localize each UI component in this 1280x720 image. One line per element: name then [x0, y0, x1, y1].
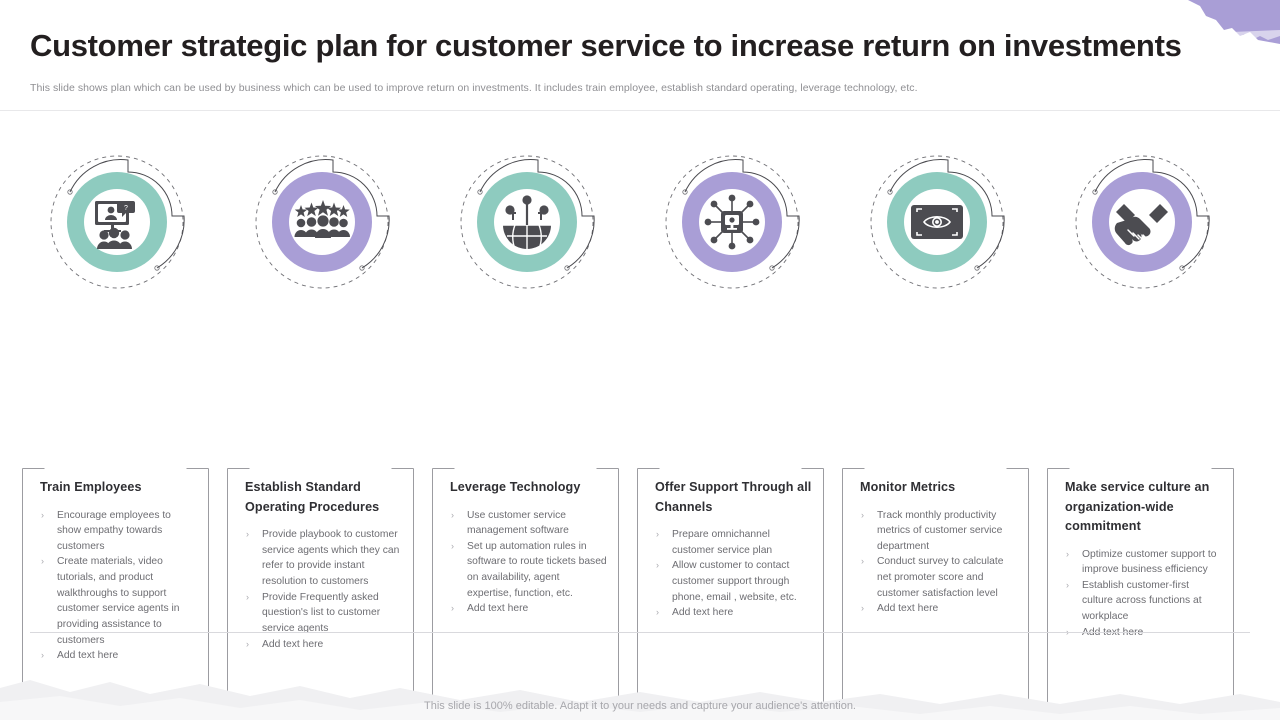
bullet-chevron-icon: › — [41, 508, 44, 523]
columns-container: ? Train Employees › Encourage employees … — [0, 0, 1280, 720]
bullet-chevron-icon: › — [246, 527, 249, 542]
step-column-01[interactable]: ? Train Employees › Encourage employees … — [22, 150, 227, 300]
bullet-text: Prepare omnichannel customer service pla… — [672, 529, 772, 556]
bullet-text: Track monthly productivity metrics of cu… — [877, 510, 1002, 552]
bullet-item: › Allow customer to contact customer sup… — [655, 558, 812, 605]
training-presentation-icon: ? — [45, 150, 205, 300]
step-column-06[interactable]: Make service culture an organization-wid… — [1047, 150, 1252, 300]
bullet-item: › Prepare omnichannel customer service p… — [655, 527, 812, 558]
slide-root: Customer strategic plan for customer ser… — [0, 0, 1280, 720]
star-rating-team-icon — [250, 150, 410, 300]
card-bullet-list: › Track monthly productivity metrics of … — [860, 508, 1017, 617]
card-title: Offer Support Through all Channels — [655, 478, 812, 517]
card-title: Train Employees — [40, 478, 197, 498]
bullet-chevron-icon: › — [1066, 547, 1069, 562]
card-bullet-list: › Use customer service management softwa… — [450, 508, 607, 617]
bullet-chevron-icon: › — [451, 539, 454, 554]
bullet-item: › Conduct survey to calculate net promot… — [860, 554, 1017, 601]
bullet-item: › Use customer service management softwa… — [450, 508, 607, 539]
globe-network-icon — [455, 150, 615, 300]
bullet-item: › Add text here — [860, 601, 1017, 617]
bullet-item: › Encourage employees to show empathy to… — [40, 508, 197, 555]
card-bullet-list: › Prepare omnichannel customer service p… — [655, 527, 812, 621]
bullet-item: › Set up automation rules in software to… — [450, 539, 607, 602]
card-bullet-list: › Encourage employees to show empathy to… — [40, 508, 197, 664]
bullet-text: Add text here — [672, 607, 733, 618]
bullet-chevron-icon: › — [246, 590, 249, 605]
bullet-item: › Establish customer-first culture acros… — [1065, 578, 1222, 625]
bullet-item: › Add text here — [655, 605, 812, 621]
bullet-chevron-icon: › — [451, 508, 454, 523]
card-title: Establish Standard Operating Procedures — [245, 478, 402, 517]
bullet-text: Add text here — [877, 603, 938, 614]
bullet-item: › Provide Frequently asked question's li… — [245, 590, 402, 637]
bullet-item: › Track monthly productivity metrics of … — [860, 508, 1017, 555]
bullet-item: › Add text here — [450, 601, 607, 617]
step-column-03[interactable]: Leverage Technology › Use customer servi… — [432, 150, 637, 300]
bullet-text: Set up automation rules in software to r… — [467, 541, 607, 599]
bullet-chevron-icon: › — [1066, 578, 1069, 593]
bullet-item: › Provide playbook to customer service a… — [245, 527, 402, 590]
bullet-item: › Optimize customer support to improve b… — [1065, 547, 1222, 578]
bullet-text: Add text here — [467, 603, 528, 614]
bullet-text: Provide playbook to customer service age… — [262, 529, 399, 587]
bullet-chevron-icon: › — [41, 554, 44, 569]
card-bullet-list: › Provide playbook to customer service a… — [245, 527, 402, 652]
bullet-chevron-icon: › — [861, 554, 864, 569]
step-column-05[interactable]: Monitor Metrics › Track monthly producti… — [842, 150, 1047, 300]
hub-channels-icon — [660, 150, 820, 300]
eye-monitor-icon — [865, 150, 1025, 300]
bullet-chevron-icon: › — [246, 637, 249, 652]
bullet-text: Conduct survey to calculate net promoter… — [877, 556, 1004, 598]
bullet-text: Optimize customer support to improve bus… — [1082, 549, 1216, 576]
step-column-04[interactable]: Offer Support Through all Channels › Pre… — [637, 150, 842, 300]
bullet-text: Add text here — [262, 639, 323, 650]
bullet-chevron-icon: › — [451, 601, 454, 616]
card-title: Leverage Technology — [450, 478, 607, 498]
card-title: Make service culture an organization-wid… — [1065, 478, 1222, 537]
step-column-02[interactable]: Establish Standard Operating Procedures … — [227, 150, 432, 300]
svg-text:?: ? — [124, 205, 128, 212]
card-title: Monitor Metrics — [860, 478, 1017, 498]
card-bullet-list: › Optimize customer support to improve b… — [1065, 547, 1222, 641]
bullet-chevron-icon: › — [656, 605, 659, 620]
handshake-icon — [1070, 150, 1230, 300]
bullet-text: Allow customer to contact customer suppo… — [672, 560, 797, 602]
bullet-item: › Add text here — [245, 637, 402, 653]
bullet-text: Use customer service management software — [467, 510, 569, 537]
footer-note: This slide is 100% editable. Adapt it to… — [0, 700, 1280, 712]
baseline-divider — [30, 632, 1250, 633]
bullet-chevron-icon: › — [656, 558, 659, 573]
bullet-text: Encourage employees to show empathy towa… — [57, 510, 171, 552]
bullet-chevron-icon: › — [861, 508, 864, 523]
bullet-item: › Create materials, video tutorials, and… — [40, 554, 197, 648]
bullet-chevron-icon: › — [656, 527, 659, 542]
bullet-text: Provide Frequently asked question's list… — [262, 592, 380, 634]
bullet-chevron-icon: › — [861, 601, 864, 616]
bullet-text: Establish customer-first culture across … — [1082, 580, 1202, 622]
